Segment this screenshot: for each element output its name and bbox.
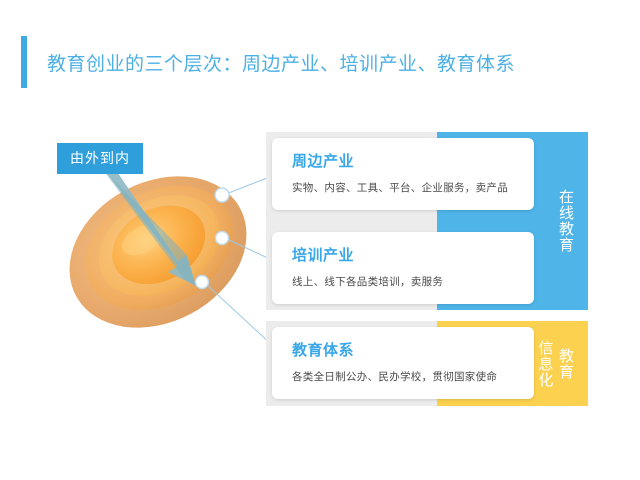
card-training-industry[interactable]: 培训产业 线上、线下各品类培训，卖服务 bbox=[272, 232, 534, 304]
card-peripheral-industry[interactable]: 周边产业 实物、内容、工具、平台、企业服务，卖产品 bbox=[272, 138, 534, 210]
card-desc-0: 实物、内容、工具、平台、企业服务，卖产品 bbox=[292, 180, 518, 195]
strip-labels-online: 在线教育 bbox=[556, 132, 574, 310]
egg-diagram bbox=[58, 152, 258, 352]
title-accent-bar bbox=[21, 36, 27, 88]
egg-layers bbox=[58, 152, 258, 352]
card-desc-1: 线上、线下各品类培训，卖服务 bbox=[292, 274, 518, 289]
card-education-system[interactable]: 教育体系 各类全日制公办、民办学校，贯彻国家使命 bbox=[272, 327, 534, 399]
card-desc-2: 各类全日制公办、民办学校，贯彻国家使命 bbox=[292, 369, 518, 384]
slide-canvas: 教育创业的三个层次：周边产业、培训产业、教育体系 bbox=[0, 0, 640, 480]
strip-label-online-0: 在线教育 bbox=[556, 189, 574, 253]
page-title: 教育创业的三个层次：周边产业、培训产业、教育体系 bbox=[21, 36, 515, 88]
card-title-1: 培训产业 bbox=[292, 244, 518, 265]
card-title-2: 教育体系 bbox=[292, 339, 518, 360]
strip-labels-info: 教育 信息化 bbox=[536, 321, 574, 406]
strip-label-info-0: 教育 bbox=[556, 348, 574, 380]
card-title-0: 周边产业 bbox=[292, 150, 518, 171]
title-text: 教育创业的三个层次：周边产业、培训产业、教育体系 bbox=[47, 49, 515, 76]
egg-illustration-svg bbox=[58, 152, 258, 352]
strip-label-info-1: 信息化 bbox=[536, 340, 554, 388]
callout-label: 由外到内 bbox=[57, 143, 143, 174]
